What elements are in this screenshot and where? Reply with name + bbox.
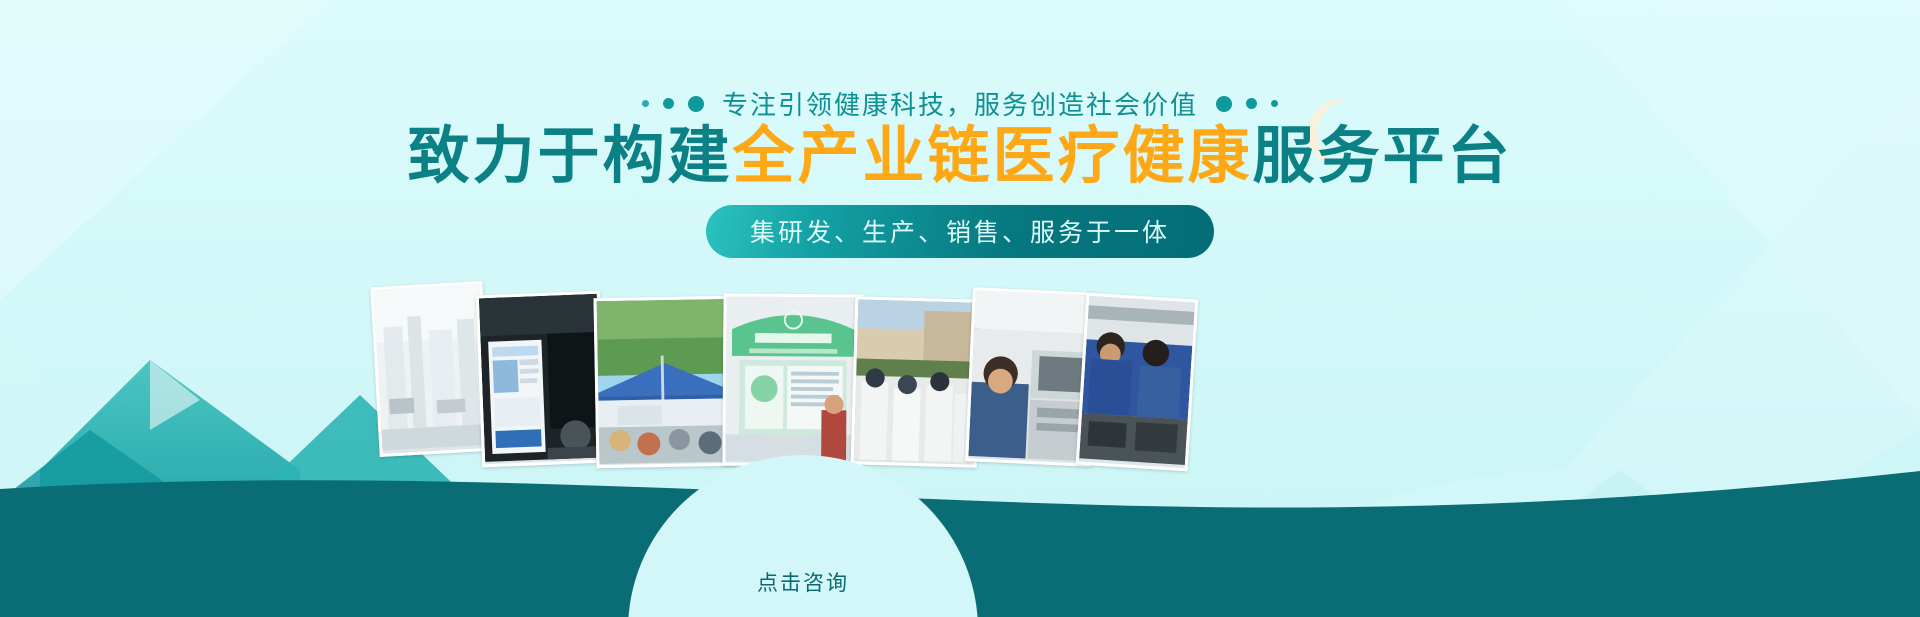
large-dot-icon bbox=[688, 96, 704, 112]
subtitle-pill-wrapper: 集研发、生产、销售、服务于一体 bbox=[0, 205, 1920, 258]
headline-part-1: 致力于构建 bbox=[407, 122, 732, 191]
decorative-dots-right bbox=[1216, 96, 1278, 112]
tagline-row: 专注引领健康科技，服务创造社会价值 bbox=[0, 85, 1920, 122]
small-dot-icon bbox=[1271, 100, 1278, 107]
headline-part-3: 服务平台 bbox=[1253, 122, 1513, 191]
banner-tagline: 专注引领健康科技，服务创造社会价值 bbox=[722, 85, 1198, 122]
medium-dot-icon bbox=[663, 98, 674, 109]
medium-dot-icon bbox=[1246, 98, 1257, 109]
photo-health-cabin-booth bbox=[722, 294, 863, 467]
small-dot-icon bbox=[642, 100, 649, 107]
headline-part-2: 全产业链医疗健康 bbox=[732, 122, 1252, 191]
banner-headline: 致力于构建全产业链医疗健康服务平台 bbox=[0, 124, 1920, 189]
photo-outdoor-health-event-tent bbox=[594, 296, 737, 468]
photo-health-kiosk-terminal bbox=[476, 291, 607, 468]
consult-button[interactable]: 点击咨询 bbox=[744, 523, 862, 617]
photo-doctors-community-checkup bbox=[851, 296, 982, 467]
photo-strip bbox=[375, 276, 1193, 461]
photo-medical-lab-equipment bbox=[370, 281, 491, 457]
subtitle-pill: 集研发、生产、销售、服务于一体 bbox=[706, 205, 1214, 258]
decorative-dots-left bbox=[642, 96, 704, 112]
large-dot-icon bbox=[1216, 96, 1232, 112]
promo-banner: 专注引领健康科技，服务创造社会价值 致力于构建全产业链医疗健康服务平台 集研发、… bbox=[0, 0, 1920, 617]
photo-workers-production-line bbox=[1076, 293, 1199, 472]
consult-button-label: 点击咨询 bbox=[757, 567, 849, 597]
